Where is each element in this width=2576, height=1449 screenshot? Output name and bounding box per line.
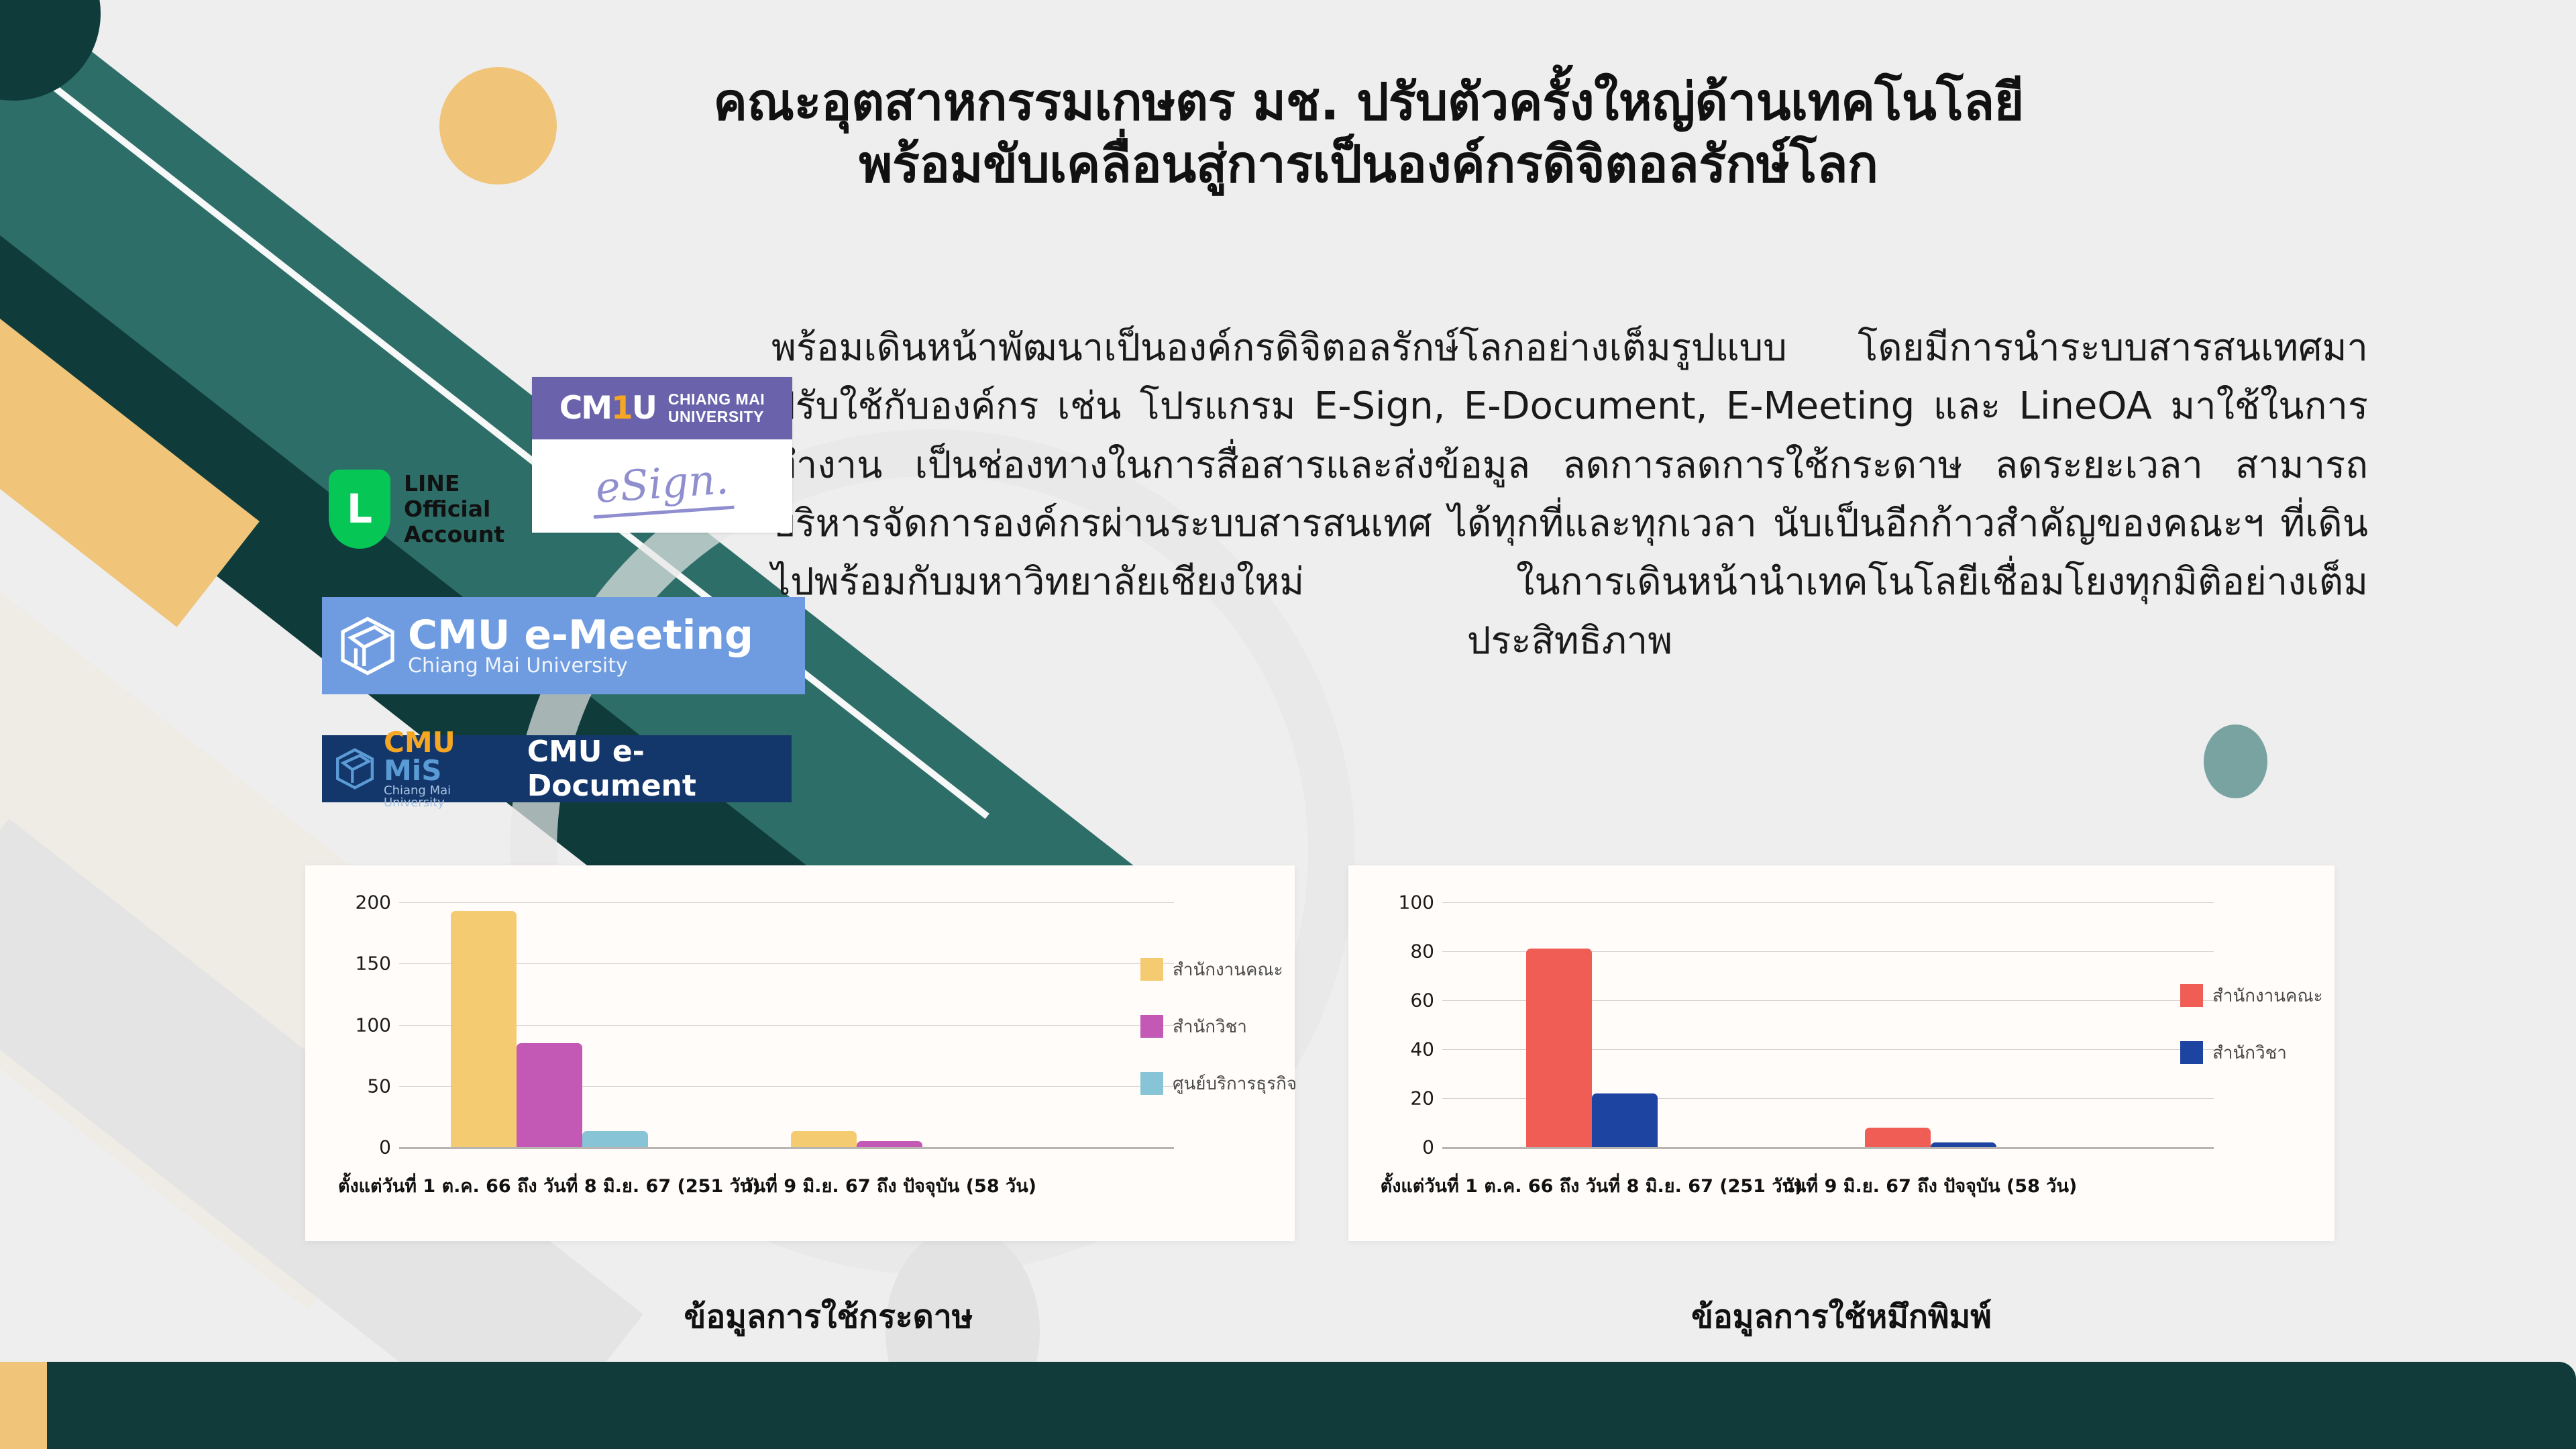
title-line-1: คณะอุตสาหกรรมเกษตร มช. ปรับตัวครั้งใหญ่ด… <box>463 70 2274 133</box>
legend-label: สำนักงานคณะ <box>1173 956 1283 983</box>
legend-item: สำนักงานคณะ <box>2180 982 2323 1010</box>
chart-plot-area: 050100150200ตั้งแต่วันที่ 1 ต.ค. 66 ถึง … <box>305 865 1295 1241</box>
legend-swatch <box>1140 1015 1163 1038</box>
esign-wordmark: eSign. <box>590 453 735 518</box>
chart-bar <box>857 1141 922 1147</box>
chart-paper-usage: 050100150200ตั้งแต่วันที่ 1 ต.ค. 66 ถึง … <box>305 865 1295 1241</box>
chart-baseline <box>399 1147 1174 1149</box>
line-word-1: LINE <box>404 471 504 496</box>
cmu-mis-wordmark: CMU MiS <box>384 729 513 785</box>
chart-gridline <box>399 902 1174 903</box>
legend-swatch <box>2180 984 2203 1007</box>
mis-mis-text: MiS <box>384 754 441 787</box>
edocument-title: CMU e-Document <box>527 735 792 803</box>
chart-gridline <box>1442 902 2214 903</box>
chart-legend: สำนักงานคณะสำนักวิชาศูนย์บริการธุรกิจ <box>1140 956 1297 1127</box>
y-axis-tick-label: 40 <box>1354 1038 1434 1061</box>
legend-label: ศูนย์บริการธุรกิจ <box>1173 1070 1297 1097</box>
y-axis-tick-label: 100 <box>1354 892 1434 914</box>
y-axis-tick-label: 20 <box>1354 1087 1434 1110</box>
chart-bar <box>1526 949 1592 1147</box>
line-badge-letter: L <box>347 486 372 533</box>
y-axis-tick-label: 60 <box>1354 989 1434 1012</box>
y-axis-tick-label: 80 <box>1354 941 1434 963</box>
x-axis-category-label: ตั้งแต่วันที่ 1 ต.ค. 66 ถึง วันที่ 8 มิ.… <box>1381 1171 1803 1200</box>
chart-bar <box>1865 1128 1931 1147</box>
cmu-mark-cm: CM <box>559 390 611 427</box>
legend-swatch <box>1140 958 1163 981</box>
legend-item: สำนักวิชา <box>2180 1039 2323 1067</box>
emeeting-subtitle: Chiang Mai University <box>408 656 753 677</box>
x-axis-category-label: ตั้งแต่วันที่ 1 ต.ค. 66 ถึง วันที่ 8 มิ.… <box>338 1171 761 1200</box>
line-logo-words: LINE Official Account <box>404 471 504 547</box>
line-word-3: Account <box>404 522 504 547</box>
legend-item: สำนักวิชา <box>1140 1013 1297 1040</box>
body-paragraph-text: พร้อมเดินหน้าพัฒนาเป็นองค์กรดิจิตอลรักษ์… <box>771 319 2368 670</box>
chart-bar <box>791 1131 857 1147</box>
line-word-2: Official <box>404 496 504 522</box>
legend-swatch <box>1140 1072 1163 1095</box>
cmu-edocument-logo: CMU MiS Chiang Mai University CMU e-Docu… <box>322 735 792 802</box>
cmu-mis-subtitle: Chiang Mai University <box>384 785 513 809</box>
title-line-2: พร้อมขับเคลื่อนสู่การเป็นองค์กรดิจิตอลรั… <box>463 133 2274 195</box>
legend-item: สำนักงานคณะ <box>1140 956 1297 983</box>
y-axis-tick-label: 100 <box>311 1014 391 1036</box>
legend-item: ศูนย์บริการธุรกิจ <box>1140 1070 1297 1097</box>
chart-bar <box>1592 1093 1658 1147</box>
x-axis-category-label: วันที่ 9 มิ.ย. 67 ถึง ปัจจุบัน (58 วัน) <box>743 1171 1036 1200</box>
cube-icon-small <box>334 747 376 790</box>
emeeting-title: CMU e-Meeting <box>408 615 753 656</box>
chart-baseline <box>1442 1147 2214 1149</box>
line-shield-icon: L <box>329 470 390 549</box>
chart-plot-area: 020406080100ตั้งแต่วันที่ 1 ต.ค. 66 ถึง … <box>1348 865 2334 1241</box>
cmu-logo-header: CM1U CHIANG MAI UNIVERSITY <box>532 377 792 439</box>
chart-bar <box>451 911 517 1147</box>
line-official-account-logo: L LINE Official Account <box>329 470 504 549</box>
chart-legend: สำนักงานคณะสำนักวิชา <box>2180 982 2323 1096</box>
y-axis-tick-label: 200 <box>311 892 391 914</box>
body-paragraph: พร้อมเดินหน้าพัฒนาเป็นองค์กรดิจิตอลรักษ์… <box>771 319 2368 670</box>
chart-bar <box>582 1131 648 1147</box>
cmu-words-line-2: UNIVERSITY <box>668 409 765 426</box>
cmu-mis-block: CMU MiS Chiang Mai University <box>384 729 513 809</box>
y-axis-tick-label: 150 <box>311 953 391 975</box>
cmu-esign-logo-card: CM1U CHIANG MAI UNIVERSITY eSign. <box>532 377 792 533</box>
legend-label: สำนักวิชา <box>1173 1013 1247 1040</box>
cmu-words-line-1: CHIANG MAI <box>668 391 765 409</box>
x-axis-category-label: วันที่ 9 มิ.ย. 67 ถึง ปัจจุบัน (58 วัน) <box>1784 1171 2077 1200</box>
y-axis-tick-label: 50 <box>311 1075 391 1097</box>
caption-paper-usage: ข้อมูลการใช้กระดาษ <box>684 1291 973 1342</box>
cmu-mark-one: 1 <box>611 390 632 427</box>
cmu-university-words: CHIANG MAI UNIVERSITY <box>668 391 765 426</box>
legend-label: สำนักวิชา <box>2212 1039 2287 1067</box>
emeeting-text-block: CMU e-Meeting Chiang Mai University <box>408 615 753 677</box>
esign-logo: eSign. <box>532 439 792 533</box>
legend-swatch <box>2180 1041 2203 1064</box>
page-title: คณะอุตสาหกรรมเกษตร มช. ปรับตัวครั้งใหญ่ด… <box>463 70 2274 196</box>
chart-bar <box>517 1043 582 1147</box>
cmu-mark-u: U <box>632 390 656 427</box>
chart-bar <box>1931 1142 1996 1147</box>
y-axis-tick-label: 0 <box>1354 1136 1434 1159</box>
y-axis-tick-label: 0 <box>311 1136 391 1159</box>
cube-icon <box>338 615 397 677</box>
cmu-emeeting-logo: CMU e-Meeting Chiang Mai University <box>322 597 805 694</box>
legend-label: สำนักงานคณะ <box>2212 982 2323 1010</box>
chart-ink-usage: 020406080100ตั้งแต่วันที่ 1 ต.ค. 66 ถึง … <box>1348 865 2334 1241</box>
caption-ink-usage: ข้อมูลการใช้หมึกพิมพ์ <box>1691 1291 1992 1342</box>
cmu-wordmark: CM1U <box>559 390 656 427</box>
